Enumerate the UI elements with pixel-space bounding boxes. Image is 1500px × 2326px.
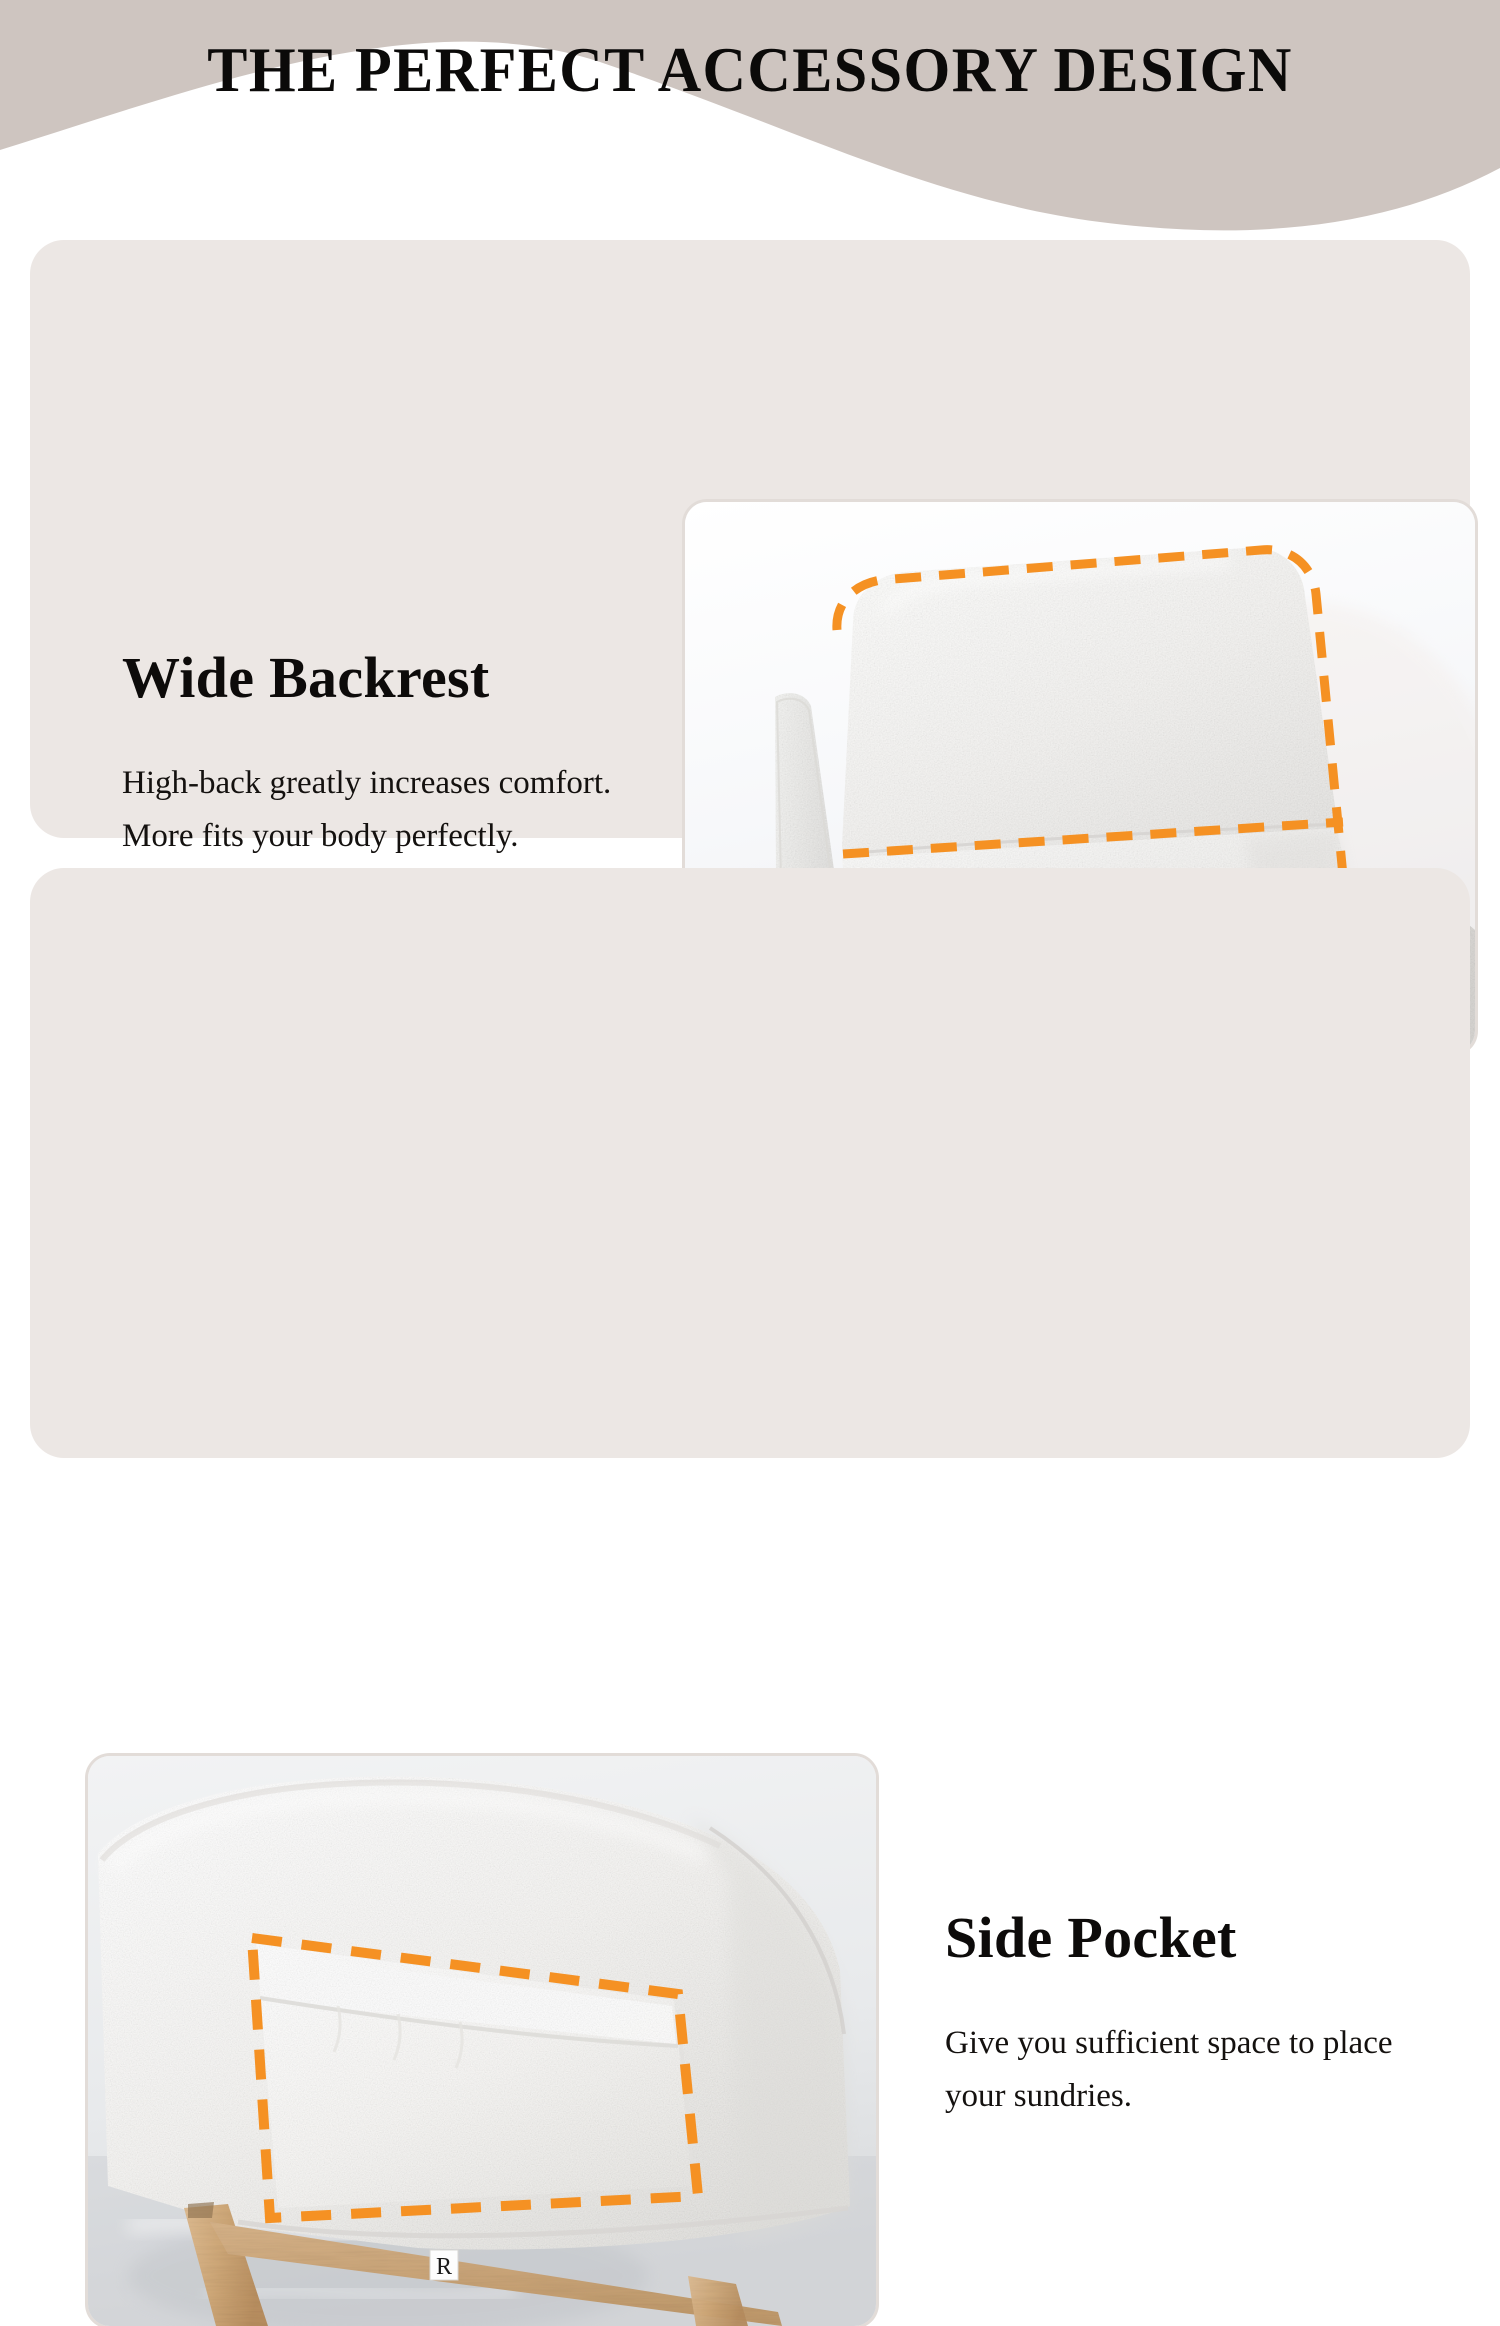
feature-card-wide-backrest: Wide Backrest High-back greatly increase… (30, 240, 1470, 838)
header-banner: THE PERFECT ACCESSORY DESIGN (0, 0, 1500, 240)
page-title: THE PERFECT ACCESSORY DESIGN (45, 38, 1455, 102)
feature-heading-wide-backrest: Wide Backrest (122, 648, 642, 709)
feature-card-side-pocket: R Side Pocket Give you sufficient space … (30, 868, 1470, 1458)
product-label-tag-text: R (436, 2254, 452, 2280)
feature-text-block-2: Side Pocket Give you sufficient space to… (945, 1908, 1445, 2124)
product-photo-side-pocket: R (88, 1756, 876, 2326)
feature-text-block-1: Wide Backrest High-back greatly increase… (122, 648, 642, 864)
feature-body-wide-backrest: High-back greatly increases comfort. Mor… (122, 757, 642, 864)
side-pocket-illustration: R (88, 1756, 876, 2326)
feature-heading-side-pocket: Side Pocket (945, 1908, 1445, 1969)
product-label-tag: R (430, 2250, 458, 2280)
feature-body-side-pocket: Give you sufficient space to place your … (945, 2017, 1445, 2124)
